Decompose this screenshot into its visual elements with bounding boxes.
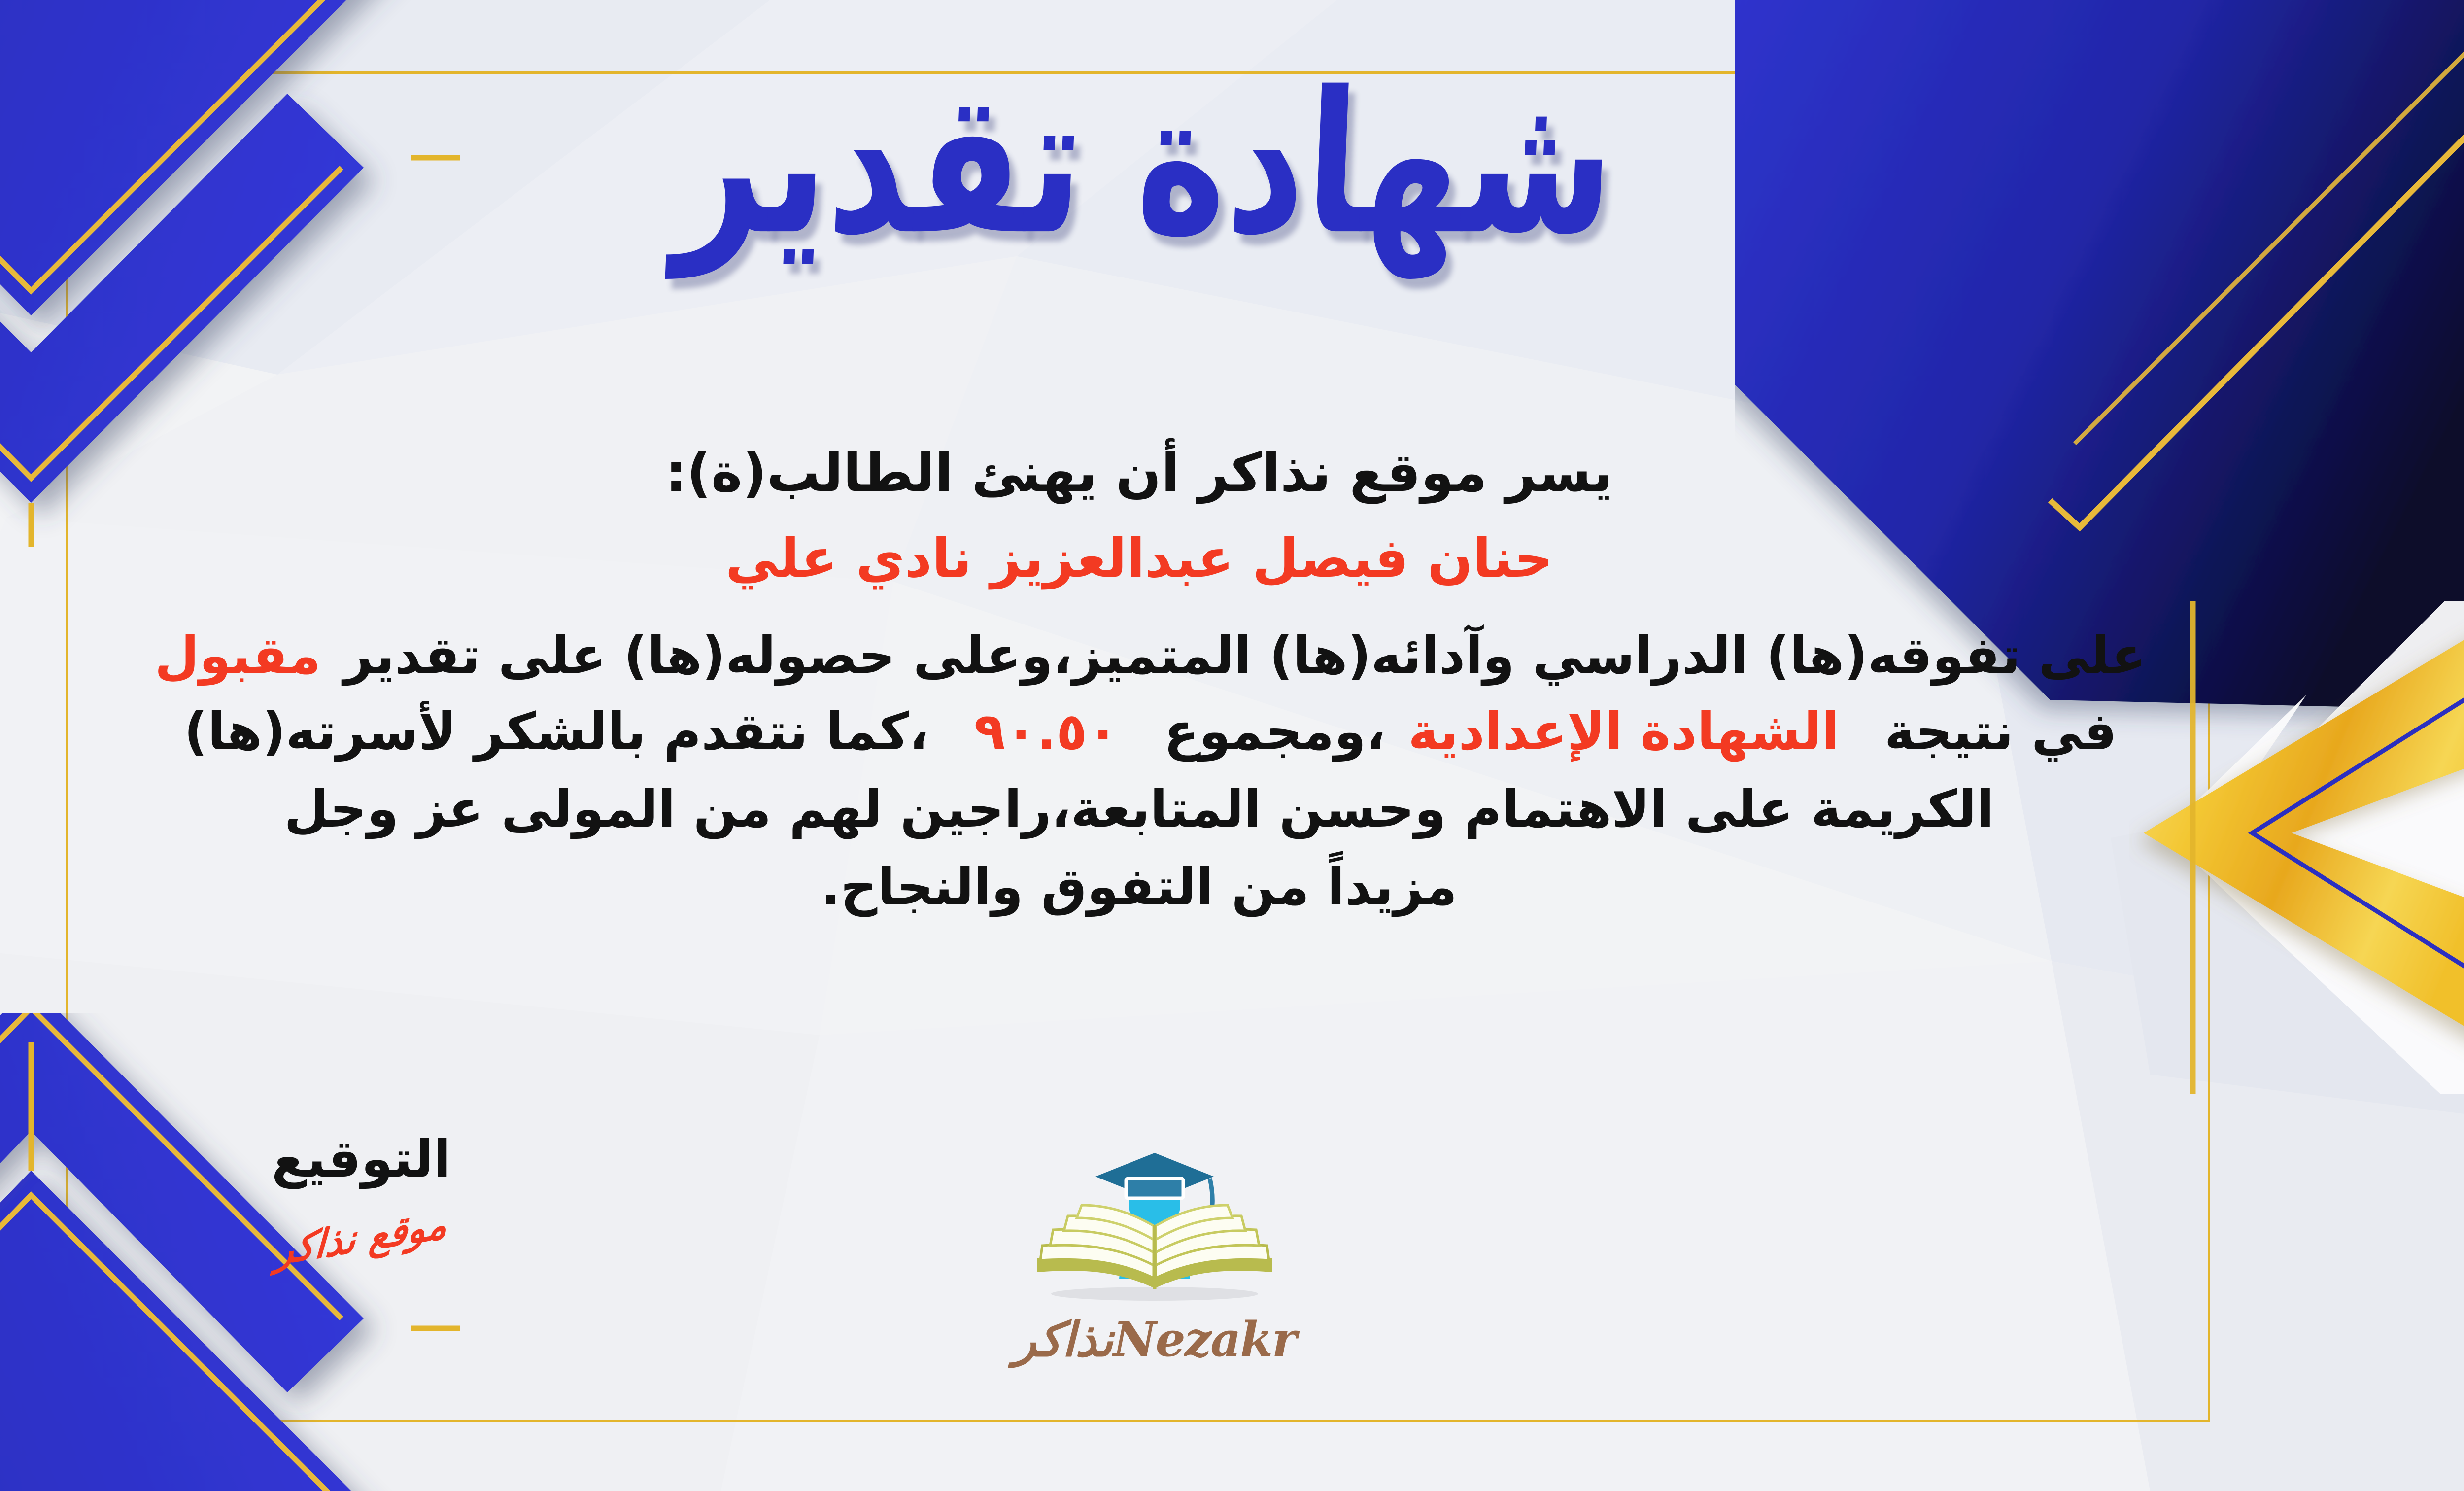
logo-latin-text: Nezakr [1113,1312,1296,1367]
certificate-body: يسر موقع نذاكر أن يهنئ الطالب(ة): حنان ف… [90,434,2188,925]
body-line-result: في نتيجةالشهادة الإعدادية،ومجموع٩٠.٥٠،كم… [90,694,2188,770]
certificate-title-wrap: شهادة تقدير [0,67,2464,219]
body-line-merit-text: على تفوقه(ها) الدراسي وآدائه(ها) المتميز… [343,625,2146,686]
student-name: حنان فيصل عبدالعزيز نادي علي [90,520,2188,598]
exam-name: الشهادة الإعدادية [1408,701,1839,762]
body-line-result-prefix: في نتيجة [1884,701,2117,762]
site-logo: Nezakrنذاكر [962,1131,1347,1367]
score-value: ٩٠.٥٠ [974,701,1118,762]
page-title: شهادة تقدير [672,67,1618,262]
body-line-result-suffix: ،كما نتقدم بالشكر لأسرته(ها) [184,701,929,762]
body-line-thanks: الكريمة على الاهتمام وحسن المتابعة،راجين… [90,771,2188,847]
signature-label: التوقيع [208,1129,514,1189]
signature-block: التوقيع موقع نذاكر [208,1129,514,1260]
body-line-greeting: يسر موقع نذاكر أن يهنئ الطالب(ة): [90,434,2188,513]
logo-wordmark: Nezakrنذاكر [962,1312,1347,1367]
body-line-closing: مزيداً من التفوق والنجاح. [90,849,2188,925]
body-line-merit: على تفوقه(ها) الدراسي وآدائه(ها) المتميز… [90,618,2188,694]
grade-value: مقبول [155,625,321,686]
graduate-on-open-book-icon [1017,1131,1293,1309]
body-line-result-mid: ،ومجموع [1164,701,1385,762]
logo-arabic-text: نذاكر [1013,1312,1113,1367]
certificate-page: شهادة تقدير يسر موقع نذاكر أن يهنئ الطال… [0,0,2464,1491]
